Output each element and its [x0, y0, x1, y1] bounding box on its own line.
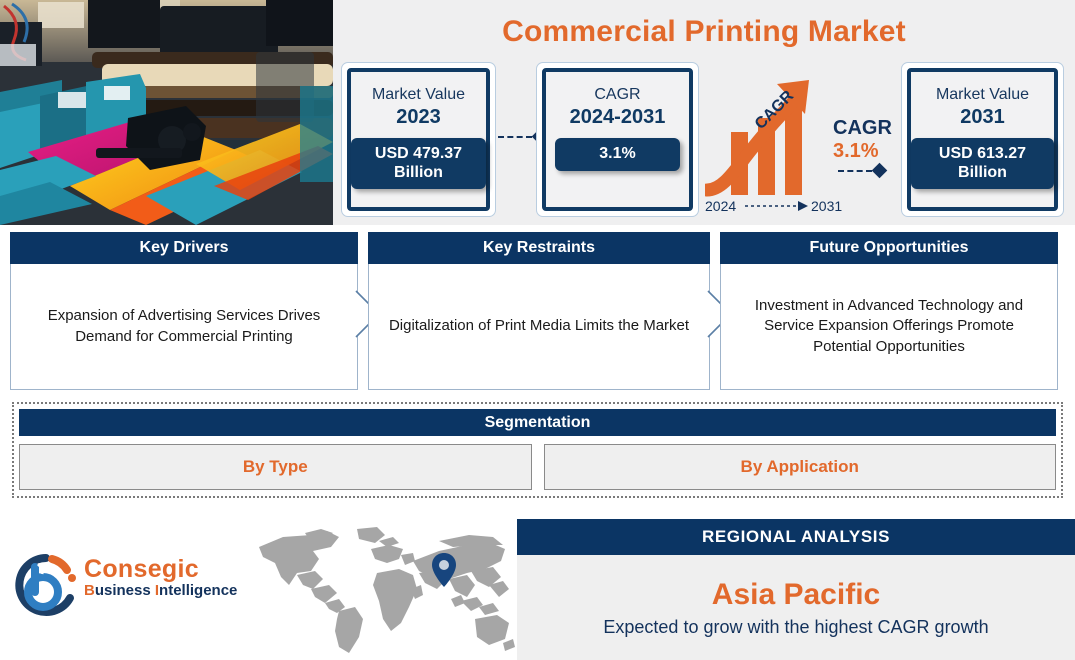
panel-key-restraints: Key Restraints Digitalization of Print M… — [368, 232, 710, 390]
infographic-root: Commercial Printing Market Market Value … — [0, 0, 1075, 660]
mv2031-value: USD 613.27 Billion — [911, 138, 1054, 189]
connector-dash — [838, 170, 872, 172]
segmentation-cell-by-application[interactable]: By Application — [544, 444, 1057, 490]
axis-start-label: 2024 — [705, 198, 736, 213]
page-title: Commercial Printing Market — [333, 8, 1075, 56]
logo-tagline-ntelligence: ntelligence — [159, 582, 237, 599]
top-band: Commercial Printing Market Market Value … — [0, 0, 1075, 225]
region-description: Expected to grow with the highest CAGR g… — [603, 617, 988, 638]
cagr-side-title: CAGR — [833, 118, 903, 138]
cagr-value: 3.1% — [555, 138, 679, 170]
logo-wordmark: Consegic — [84, 556, 237, 582]
world-map — [253, 527, 515, 659]
panel-key-drivers-heading: Key Drivers — [10, 232, 358, 264]
panel-future-opportunities-body: Investment in Advanced Technology and Se… — [720, 264, 1058, 390]
mv2023-value: USD 479.37 Billion — [351, 138, 486, 189]
segmentation-row: By Type By Application — [19, 444, 1056, 490]
consegic-logo-icon — [12, 552, 80, 618]
mv2023-label: Market Value — [372, 86, 465, 104]
hero-photo — [0, 0, 333, 225]
regional-analysis-card: REGIONAL ANALYSIS Asia Pacific Expected … — [517, 519, 1075, 660]
stat-card-market-value-2031: Market Value 2031 USD 613.27 Billion — [901, 62, 1064, 217]
connector-cagr-to-2031 — [838, 165, 885, 176]
panel-key-restraints-heading: Key Restraints — [368, 232, 710, 264]
cagr-label: CAGR — [594, 86, 640, 104]
stat-card-market-value-2023: Market Value 2023 USD 479.37 Billion — [341, 62, 496, 217]
region-name: Asia Pacific — [712, 578, 880, 611]
panel-key-drivers: Key Drivers Expansion of Advertising Ser… — [10, 232, 358, 390]
connector-dash — [498, 136, 532, 138]
panel-key-restraints-body: Digitalization of Print Media Limits the… — [368, 264, 710, 390]
regional-analysis-heading: REGIONAL ANALYSIS — [517, 519, 1075, 555]
mv2023-year: 2023 — [396, 105, 441, 129]
cagr-period: 2024-2031 — [570, 105, 666, 129]
regional-analysis-body: Asia Pacific Expected to grow with the h… — [517, 555, 1075, 660]
cagr-side-value: 3.1% — [833, 140, 903, 163]
axis-end-label: 2031 — [811, 198, 842, 213]
panel-future-opportunities: Future Opportunities Investment in Advan… — [720, 232, 1058, 390]
connector-diamond-icon — [872, 163, 888, 179]
growth-chart-icon: CAGR 2024 2031 — [705, 78, 845, 213]
segmentation-heading: Segmentation — [19, 409, 1056, 436]
footer: Consegic Business Intelligence — [0, 512, 1075, 660]
printing-press-illustration — [0, 0, 333, 225]
panel-key-drivers-body: Expansion of Advertising Services Drives… — [10, 264, 358, 390]
segmentation-section: Segmentation By Type By Application — [12, 402, 1063, 498]
segmentation-cell-by-type[interactable]: By Type — [19, 444, 532, 490]
panel-future-opportunities-heading: Future Opportunities — [720, 232, 1058, 264]
mv2031-label: Market Value — [936, 86, 1029, 104]
brand-logo: Consegic Business Intelligence — [12, 550, 252, 622]
logo-tagline-b: B — [84, 582, 95, 599]
stat-card-cagr: CAGR 2024-2031 3.1% — [536, 62, 699, 217]
mv2031-year: 2031 — [960, 105, 1005, 129]
cagr-side-readout: CAGR 3.1% — [833, 118, 903, 163]
logo-tagline-usiness: usiness — [95, 582, 155, 599]
logo-tagline: Business Intelligence — [84, 583, 237, 600]
